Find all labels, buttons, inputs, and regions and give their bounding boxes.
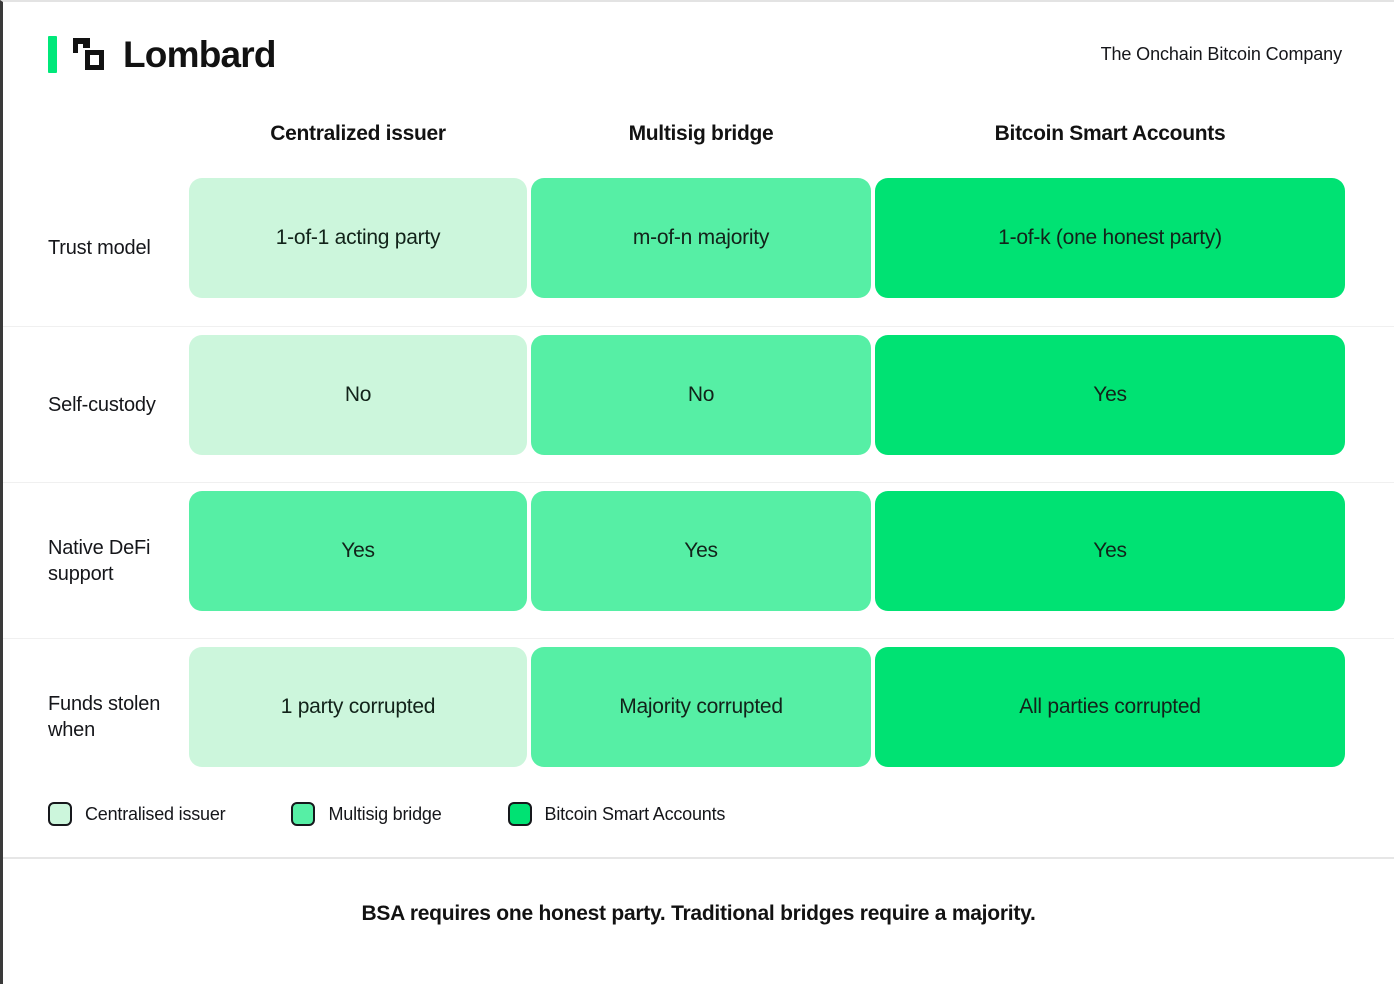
table-row: Self-custody No No Yes (3, 326, 1394, 482)
table-row: Trust model 1-of-1 acting party m-of-n m… (3, 170, 1394, 326)
legend-item-bitcoin-smart-accounts: Bitcoin Smart Accounts (508, 802, 726, 826)
legend-swatch-light-icon (48, 802, 72, 826)
cell-trust-model-centralized: 1-of-1 acting party (189, 178, 527, 298)
cell-native-defi-centralized: Yes (189, 491, 527, 611)
column-header-centralized-issuer: Centralized issuer (189, 122, 527, 146)
footer-caption: BSA requires one honest party. Tradition… (3, 902, 1394, 926)
cell-funds-stolen-multisig: Majority corrupted (531, 647, 871, 767)
column-headers: Centralized issuer Multisig bridge Bitco… (3, 122, 1394, 158)
row-label-trust-model: Trust model (48, 235, 188, 261)
comparison-grid: Trust model 1-of-1 acting party m-of-n m… (3, 170, 1394, 794)
row-label-self-custody: Self-custody (48, 392, 188, 418)
header: Lombard The Onchain Bitcoin Company (3, 2, 1394, 106)
cell-funds-stolen-bsa: All parties corrupted (875, 647, 1345, 767)
brand-name: Lombard (123, 36, 276, 73)
cell-trust-model-bsa: 1-of-k (one honest party) (875, 178, 1345, 298)
legend-label-multisig-bridge: Multisig bridge (328, 804, 441, 825)
row-label-native-defi-support: Native DeFi support (48, 535, 188, 587)
legend: Centralised issuer Multisig bridge Bitco… (48, 802, 725, 826)
legend-swatch-dark-icon (508, 802, 532, 826)
column-header-bitcoin-smart-accounts: Bitcoin Smart Accounts (875, 122, 1345, 146)
legend-label-centralised-issuer: Centralised issuer (85, 804, 225, 825)
table-row: Native DeFi support Yes Yes Yes (3, 482, 1394, 638)
row-label-funds-stolen-when: Funds stolen when (48, 691, 188, 743)
legend-item-multisig-bridge: Multisig bridge (291, 802, 441, 826)
infographic-card: Lombard The Onchain Bitcoin Company Cent… (0, 0, 1394, 984)
cell-self-custody-multisig: No (531, 335, 871, 455)
logo-accent-bar-icon (48, 36, 57, 73)
legend-label-bitcoin-smart-accounts: Bitcoin Smart Accounts (545, 804, 726, 825)
cell-self-custody-centralized: No (189, 335, 527, 455)
legend-swatch-mid-icon (291, 802, 315, 826)
table-row: Funds stolen when 1 party corrupted Majo… (3, 638, 1394, 794)
cell-funds-stolen-centralized: 1 party corrupted (189, 647, 527, 767)
legend-item-centralised-issuer: Centralised issuer (48, 802, 225, 826)
cell-native-defi-bsa: Yes (875, 491, 1345, 611)
brand-tagline: The Onchain Bitcoin Company (1101, 44, 1342, 65)
cell-trust-model-multisig: m-of-n majority (531, 178, 871, 298)
cell-native-defi-multisig: Yes (531, 491, 871, 611)
cell-self-custody-bsa: Yes (875, 335, 1345, 455)
brand-logo: Lombard (48, 36, 276, 73)
lombard-logo-mark-icon (71, 36, 109, 72)
column-header-multisig-bridge: Multisig bridge (531, 122, 871, 146)
footer-divider (3, 857, 1394, 859)
